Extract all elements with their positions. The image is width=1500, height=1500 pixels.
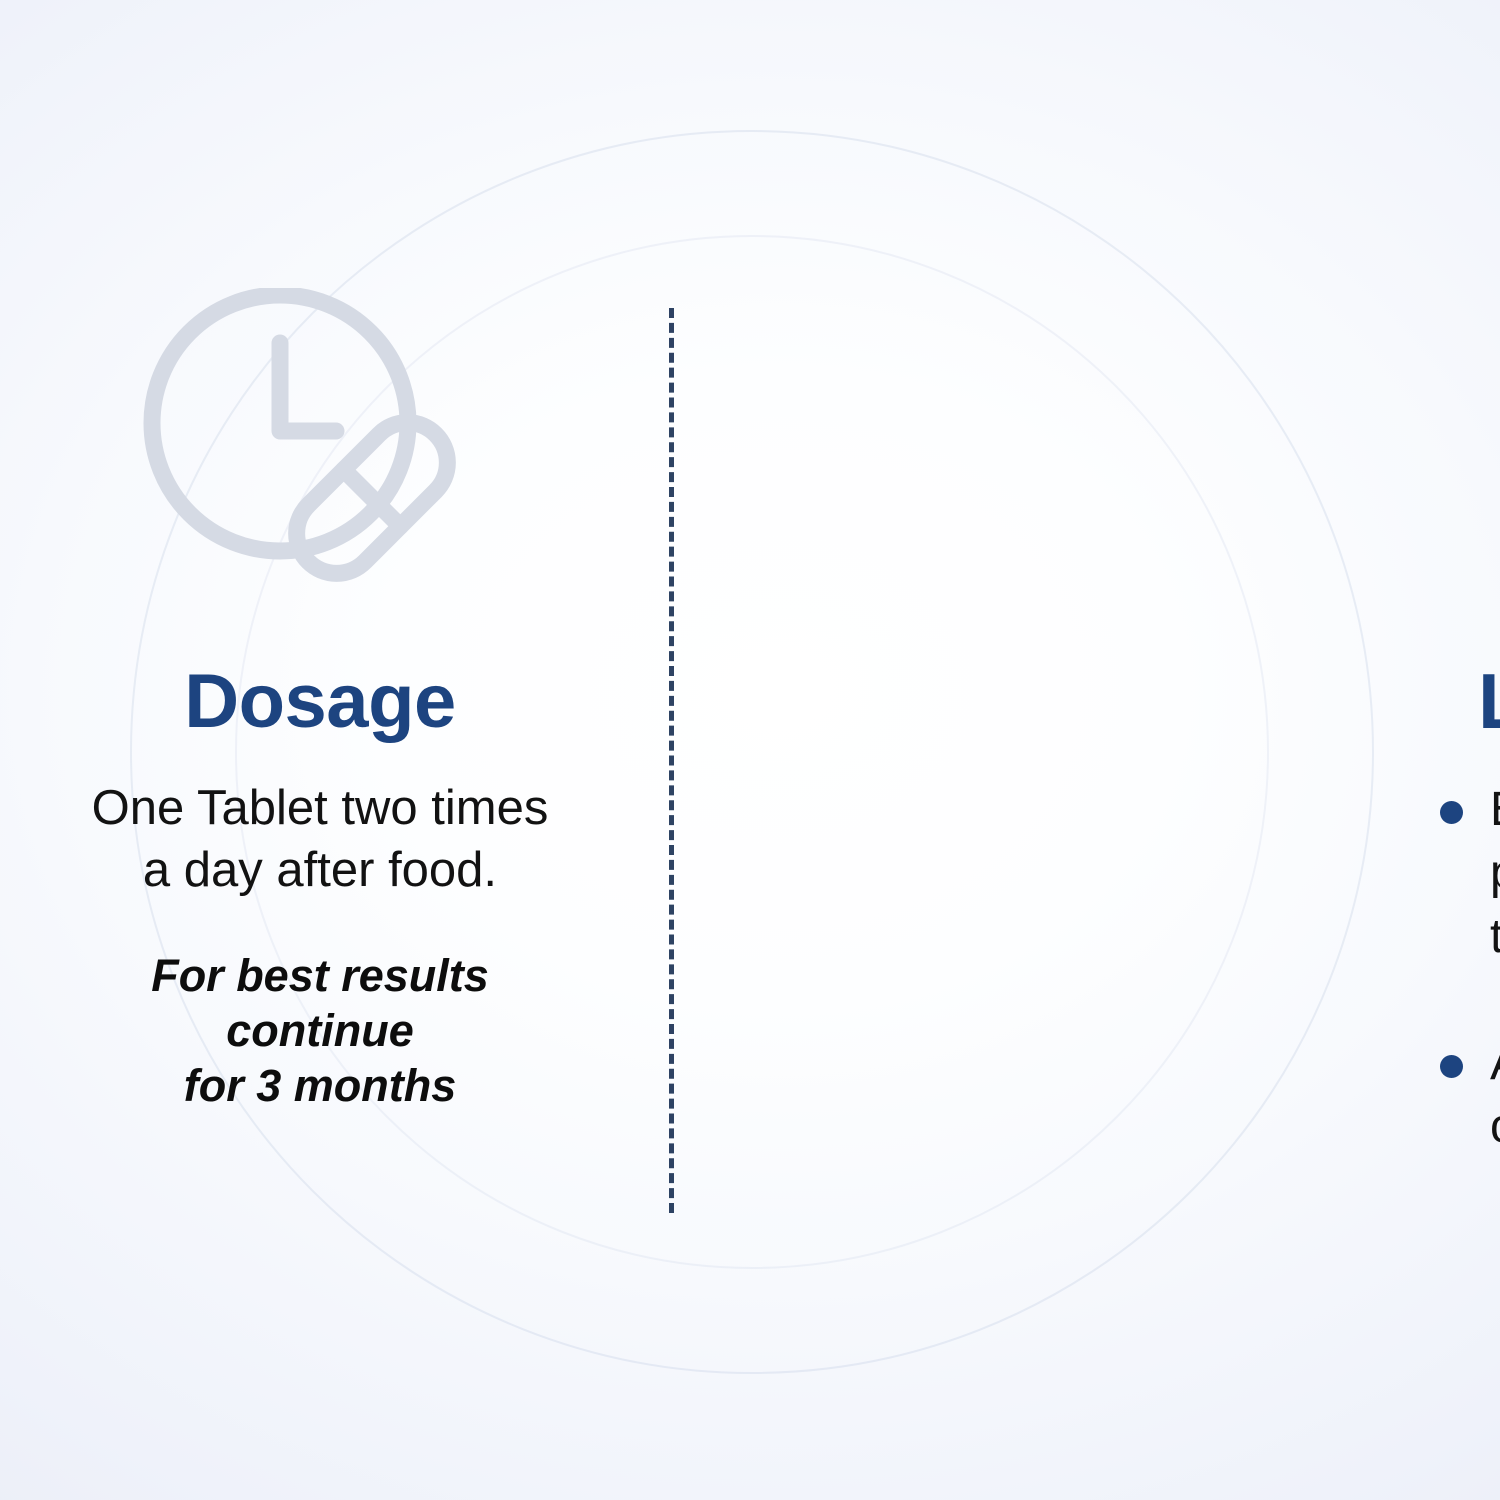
dosage-note: For best results continue for 3 months (20, 949, 620, 1114)
lifestyle-column: Lifestyle advice Exercise & meditate or … (670, 0, 1500, 1500)
bullet-dot-icon (1440, 801, 1463, 824)
dosage-instruction-line-2: a day after food. (20, 840, 620, 902)
dosage-note-line-3: for 3 months (20, 1059, 620, 1114)
page-title-lifestyle: Lifestyle advice (1478, 662, 1500, 740)
dosage-instruction-line-1: One Tablet two times (20, 778, 620, 840)
list-item: Avoid Sugar & too much of caffeine intak… (1432, 1032, 1500, 1159)
two-column-layout: Dosage One Tablet two times a day after … (0, 0, 1500, 1500)
poster-canvas: Dosage One Tablet two times a day after … (0, 0, 1500, 1500)
column-divider (669, 308, 674, 1213)
dosage-note-line-1: For best results (20, 949, 620, 1004)
dosage-column: Dosage One Tablet two times a day after … (0, 0, 670, 1500)
list-item: Exercise & meditate or perform deep brea… (1432, 778, 1500, 968)
clock-and-pill-icon (140, 288, 520, 618)
bullet-dot-icon (1440, 1055, 1463, 1078)
page-title-dosage: Dosage (0, 664, 640, 740)
dosage-body: One Tablet two times a day after food. F… (20, 778, 620, 1114)
list-item-text: Avoid Sugar & too much of caffeine intak… (1490, 1037, 1500, 1153)
dosage-instruction: One Tablet two times a day after food. (20, 778, 620, 901)
list-item-text: Exercise & meditate or perform deep brea… (1490, 783, 1500, 963)
lifestyle-advice-list: Exercise & meditate or perform deep brea… (1432, 778, 1500, 1159)
dosage-note-line-2: continue (20, 1004, 620, 1059)
